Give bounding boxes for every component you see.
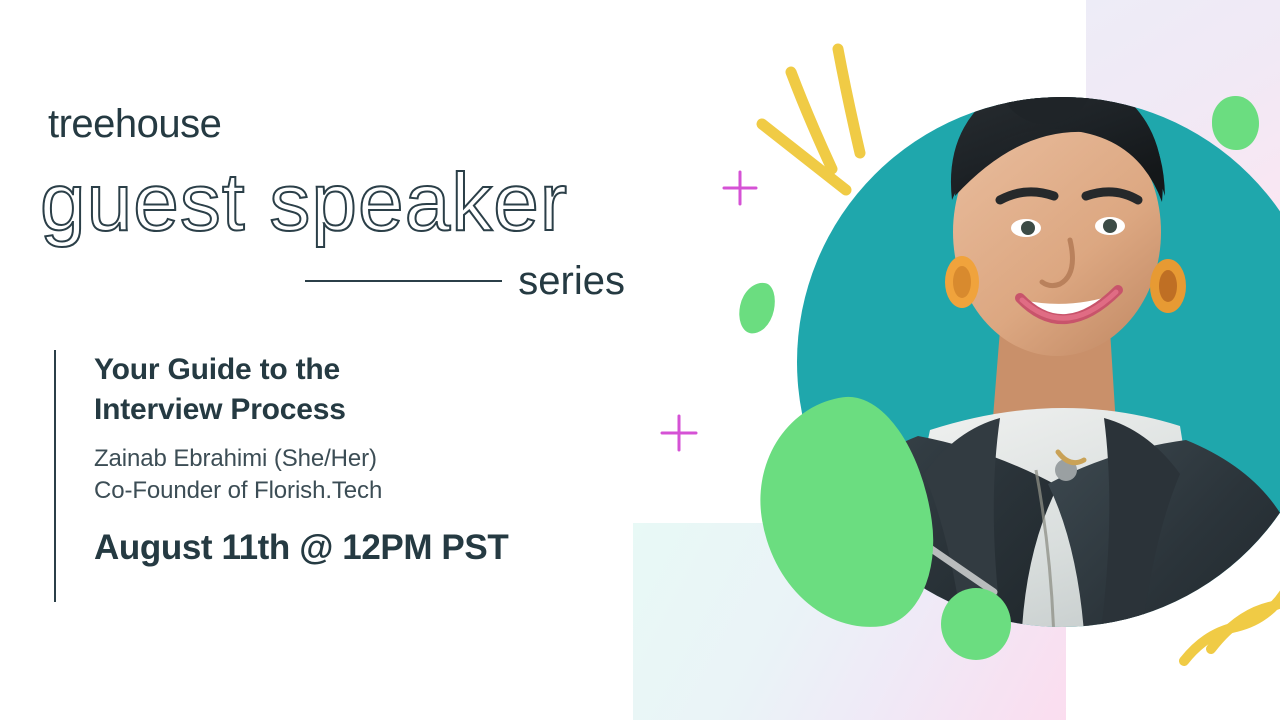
green-blob-round — [941, 588, 1011, 660]
text-column: treehouse guest speaker series Your Guid… — [0, 0, 660, 720]
event-details: Your Guide to the Interview Process Zain… — [54, 350, 508, 602]
green-blob-small — [735, 279, 779, 337]
brand-wordmark: treehouse — [48, 104, 221, 144]
talk-title: Your Guide to the Interview Process — [94, 350, 508, 429]
plus-upper — [724, 172, 756, 204]
headline-guest-speaker: guest speaker — [40, 160, 568, 245]
speaker-role: Co-Founder of Florish.Tech — [94, 475, 508, 507]
speaker-name: Zainab Ebrahimi (She/Her) — [94, 443, 508, 475]
series-row: series — [305, 258, 625, 304]
green-blob-topright — [1212, 96, 1259, 150]
promo-slide: treehouse guest speaker series Your Guid… — [0, 0, 1280, 720]
plus-lower — [662, 416, 696, 450]
series-label: series — [518, 261, 625, 301]
event-datetime: August 11th @ 12PM PST — [94, 527, 508, 569]
series-divider-rule — [305, 280, 502, 282]
